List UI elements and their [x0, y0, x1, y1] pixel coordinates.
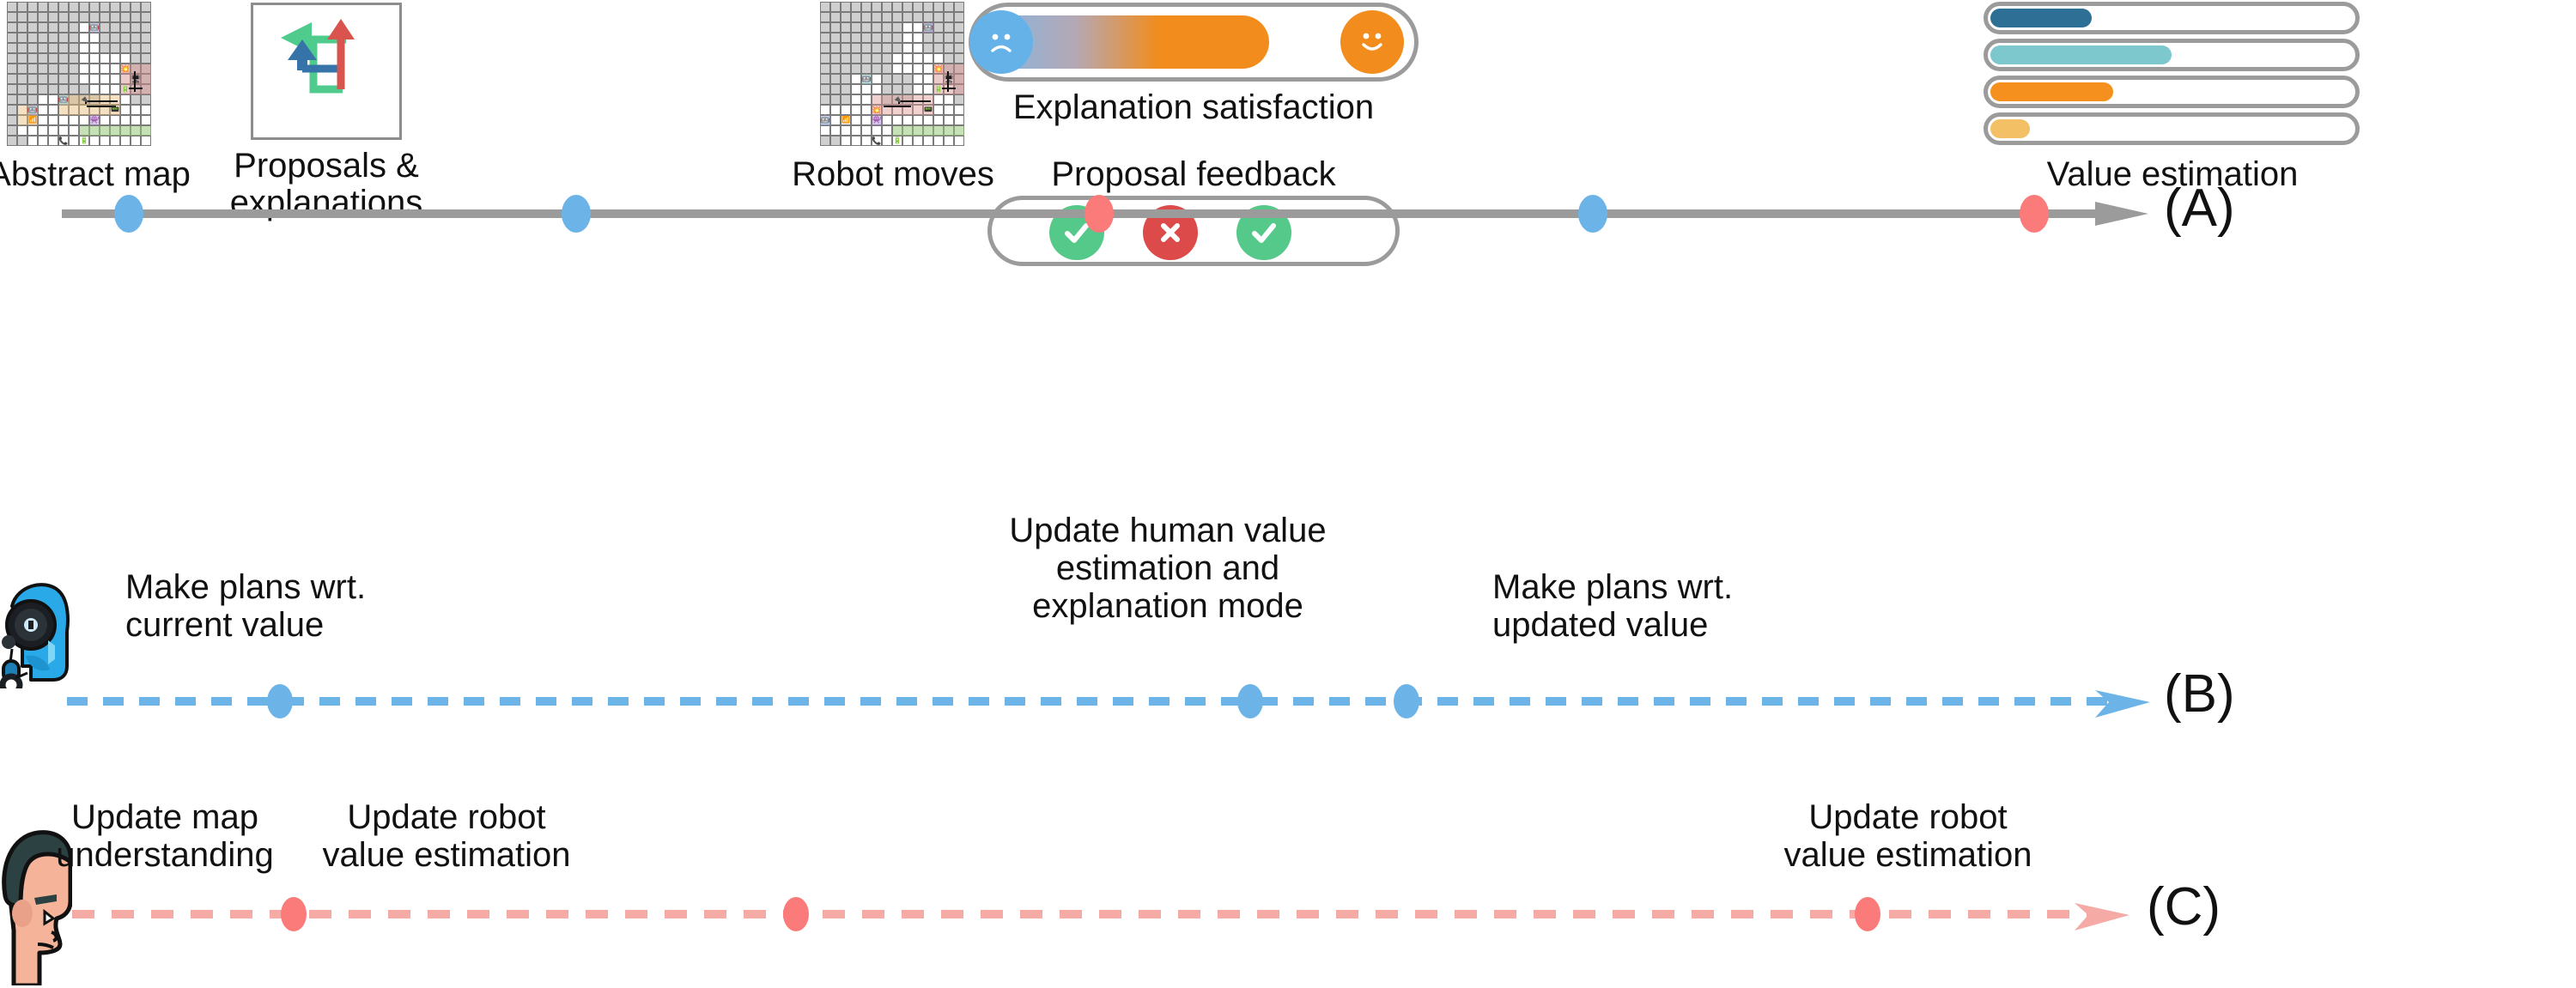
grid-cell	[820, 33, 830, 43]
grid-cell	[902, 2, 913, 12]
grid-cell	[79, 115, 89, 125]
signal-icon: 📶	[841, 115, 851, 125]
grid-cell	[830, 105, 841, 115]
grid-cell	[110, 12, 120, 22]
grid-cell	[27, 12, 38, 22]
grid-cell	[141, 53, 151, 64]
grid-cell	[100, 74, 110, 84]
grid-cell	[7, 64, 17, 74]
robot-marker-icon: 🤖	[27, 105, 38, 115]
grid-cell	[7, 84, 17, 94]
grid-cell	[841, 136, 851, 146]
grid-cell	[17, 74, 27, 84]
grid-cell	[954, 43, 964, 53]
grid-cell	[954, 22, 964, 33]
timeline-dot[interactable]	[1394, 684, 1419, 718]
grid-cell	[17, 84, 27, 94]
grid-cell	[841, 33, 851, 43]
grid-cell	[933, 12, 944, 22]
timeline-dot[interactable]	[1237, 684, 1263, 718]
grid-cell	[79, 53, 89, 64]
grid-cell	[7, 136, 17, 146]
grid-cell	[79, 74, 89, 84]
grid-cell	[933, 94, 944, 105]
value-bar-track[interactable]	[1984, 2, 2360, 34]
grid-cell	[851, 33, 861, 43]
grid-cell	[27, 84, 38, 94]
robot-head-icon	[0, 577, 72, 688]
grid-cell	[841, 2, 851, 12]
timeline-dot[interactable]	[114, 195, 143, 233]
grid-cell	[913, 2, 923, 12]
grid-cell	[7, 94, 17, 105]
grid-cell	[69, 64, 79, 74]
grid-cell	[882, 125, 892, 136]
grid-cell	[882, 74, 892, 84]
grid-cell	[872, 84, 882, 94]
value-bar-fill	[1990, 119, 2030, 138]
grid-cell	[954, 33, 964, 43]
grid-cell	[17, 22, 27, 33]
battery-icon: 🔋	[120, 84, 131, 94]
grid-cell	[872, 43, 882, 53]
grid-cell	[110, 64, 120, 74]
grid-cell	[17, 94, 27, 105]
hazard-robot-icon: 👾	[872, 115, 882, 125]
grid-cell	[882, 136, 892, 146]
grid-cell	[933, 136, 944, 146]
grid-cell	[69, 84, 79, 94]
grid-cell	[872, 64, 882, 74]
grid-cell	[913, 84, 923, 94]
grid-cell	[79, 22, 89, 33]
grid-cell	[79, 64, 89, 74]
timeline-b-note-0: Make plans wrt. current value	[125, 568, 572, 644]
grid-cell	[141, 136, 151, 146]
grid-cell	[892, 64, 902, 74]
grid-cell	[120, 94, 131, 105]
timeline-dot[interactable]	[783, 897, 809, 931]
radio-icon: 📟	[923, 105, 933, 115]
grid-cell	[913, 33, 923, 43]
grid-cell	[861, 84, 872, 94]
grid-cell	[69, 2, 79, 12]
grid-cell	[851, 125, 861, 136]
grid-cell	[69, 12, 79, 22]
timeline-dot[interactable]	[2020, 195, 2049, 233]
grid-cell	[944, 94, 954, 105]
grid-cell	[120, 33, 131, 43]
chip-icon: 🖥	[131, 74, 141, 84]
proposal-feedback-caption: Proposal feedback	[970, 156, 1417, 193]
grid-cell	[933, 33, 944, 43]
grid-cell	[820, 84, 830, 94]
grid-cell	[100, 12, 110, 22]
timeline-c-note-1: Update robot value estimation	[240, 798, 653, 874]
grid-cell	[820, 12, 830, 22]
grid-cell	[58, 22, 69, 33]
grid-cell	[79, 33, 89, 43]
grid-cell	[851, 53, 861, 64]
robot-marker-icon: 🤖	[58, 94, 69, 105]
grid-cell	[872, 53, 882, 64]
grid-cell	[954, 2, 964, 12]
grid-cell	[27, 136, 38, 146]
grid-cell	[58, 33, 69, 43]
grid-cell	[902, 115, 913, 125]
grid-cell	[38, 22, 48, 33]
grid-cell	[892, 33, 902, 43]
grid-cell	[58, 12, 69, 22]
value-bar-track[interactable]	[1984, 76, 2360, 108]
grid-cell	[110, 84, 120, 94]
grid-cell	[882, 115, 892, 125]
phone-icon: 📞	[58, 136, 69, 146]
grid-cell	[7, 22, 17, 33]
grid-cell	[110, 22, 120, 33]
value-bar-fill	[1990, 9, 2092, 27]
grid-cell	[830, 125, 841, 136]
grid-cell	[58, 115, 69, 125]
grid-cell	[820, 136, 830, 146]
grid-cell	[872, 33, 882, 43]
grid-cell	[872, 22, 882, 33]
grid-cell	[882, 84, 892, 94]
grid-cell	[851, 115, 861, 125]
grid-cell	[913, 74, 923, 84]
value-bar-track[interactable]	[1984, 39, 2360, 71]
robot-marker-icon: 🤖	[923, 22, 933, 33]
grid-cell	[38, 115, 48, 125]
radio-icon: 📟	[110, 105, 120, 115]
grid-region-highlight	[80, 126, 151, 136]
grid-cell	[954, 94, 964, 105]
timeline-b-axis	[67, 697, 2111, 706]
grid-cell	[841, 53, 851, 64]
grid-cell	[69, 43, 79, 53]
grid-cell	[79, 12, 89, 22]
grid-cell	[131, 43, 141, 53]
grid-cell	[820, 125, 830, 136]
explosion-icon: 💥	[872, 105, 882, 115]
grid-cell	[27, 64, 38, 74]
grid-cell	[89, 33, 100, 43]
grid-cell	[882, 22, 892, 33]
grid-cell	[902, 74, 913, 84]
grid-cell	[944, 22, 954, 33]
grid-cell	[7, 105, 17, 115]
grid-cell	[141, 105, 151, 115]
grid-cell	[851, 22, 861, 33]
grid-cell	[48, 22, 58, 33]
grid-cell	[851, 105, 861, 115]
grid-cell	[110, 115, 120, 125]
grid-cell	[933, 22, 944, 33]
grid-cell	[100, 43, 110, 53]
grid-cell	[120, 105, 131, 115]
grid-cell	[913, 115, 923, 125]
grid-cell	[7, 115, 17, 125]
grid-cell	[7, 33, 17, 43]
grid-cell	[38, 33, 48, 43]
grid-cell	[27, 94, 38, 105]
grid-cell	[933, 43, 944, 53]
explosion-icon: 💥	[933, 64, 944, 74]
robot-marker-icon: 🤖	[820, 115, 830, 125]
grid-cell	[38, 84, 48, 94]
grid-cell	[892, 53, 902, 64]
grid-cell	[131, 12, 141, 22]
grid-cell	[141, 22, 151, 33]
grid-cell	[933, 53, 944, 64]
grid-cell	[902, 84, 913, 94]
timeline-c-label: (C)	[2147, 881, 2221, 934]
grid-cell	[38, 2, 48, 12]
grid-cell	[902, 53, 913, 64]
grid-cell	[830, 53, 841, 64]
grid-cell	[923, 33, 933, 43]
grid-cell	[851, 84, 861, 94]
grid-cell	[830, 64, 841, 74]
battery-icon: 🔋	[933, 84, 944, 94]
grid-cell	[923, 115, 933, 125]
grid-cell	[892, 115, 902, 125]
robot-marker-icon: 🤖	[89, 22, 100, 33]
grid-cell	[820, 43, 830, 53]
grid-cell	[882, 64, 892, 74]
grid-cell	[872, 74, 882, 84]
grid-cell	[131, 53, 141, 64]
proposals-explanations-panel	[251, 3, 402, 140]
grid-cell	[48, 33, 58, 43]
grid-cell	[89, 84, 100, 94]
grid-cell	[861, 125, 872, 136]
grid-cell	[17, 53, 27, 64]
timeline-dot[interactable]	[1084, 195, 1114, 233]
value-bar-fill	[1990, 45, 2172, 64]
grid-cell	[902, 43, 913, 53]
grid-cell	[131, 136, 141, 146]
grid-cell	[79, 43, 89, 53]
grid-cell	[17, 33, 27, 43]
grid-cell	[944, 53, 954, 64]
timeline-a-arrowhead	[2095, 193, 2152, 234]
grid-cell	[830, 2, 841, 12]
grid-cell	[48, 136, 58, 146]
grid-cell	[38, 74, 48, 84]
timeline-dot[interactable]	[562, 195, 591, 233]
grid-cell	[830, 43, 841, 53]
grid-cell	[841, 84, 851, 94]
battery-icon: 🔋	[79, 136, 89, 146]
grid-cell	[933, 115, 944, 125]
grid-cell	[58, 64, 69, 74]
grid-wire	[942, 88, 956, 89]
grid-cell	[882, 33, 892, 43]
grid-cell	[17, 136, 27, 146]
grid-cell	[89, 136, 100, 146]
explosion-icon: 💥	[120, 64, 131, 74]
timeline-c-note-2: Update robot value estimation	[1702, 798, 2114, 874]
grid-cell	[841, 105, 851, 115]
grid-cell	[48, 84, 58, 94]
grid-cell	[100, 2, 110, 12]
grid-cell	[902, 64, 913, 74]
grid-cell	[820, 105, 830, 115]
grid-cell	[882, 53, 892, 64]
grid-cell	[48, 94, 58, 105]
grid-cell	[89, 53, 100, 64]
grid-cell	[38, 94, 48, 105]
grid-cell	[48, 125, 58, 136]
grid-cell	[120, 22, 131, 33]
grid-cell	[820, 53, 830, 64]
grid-cell	[89, 2, 100, 12]
grid-cell	[944, 105, 954, 115]
grid-map-icon: 🤖🤖🤖👾💥🖥🔋🔌📟📶📞🔋	[7, 2, 151, 146]
robot-marker-icon: 🤖	[861, 74, 872, 84]
grid-cell	[131, 22, 141, 33]
value-bar-track[interactable]	[1984, 112, 2360, 145]
grid-cell	[100, 115, 110, 125]
grid-cell	[69, 33, 79, 43]
grid-cell	[69, 125, 79, 136]
grid-cell	[120, 136, 131, 146]
grid-cell	[17, 12, 27, 22]
robot-moves-panel: 🤖🤖🤖👾💥🖥🔋🔌📟💥📶📞🔋	[820, 2, 964, 146]
grid-cell	[902, 33, 913, 43]
robot-moves-caption: Robot moves	[773, 156, 1013, 193]
grid-cell	[841, 12, 851, 22]
grid-cell	[913, 64, 923, 74]
grid-cell	[954, 53, 964, 64]
grid-cell	[48, 74, 58, 84]
grid-cell	[69, 115, 79, 125]
proposal-feedback-group[interactable]	[987, 196, 1400, 266]
grid-cell	[861, 53, 872, 64]
grid-cell	[120, 43, 131, 53]
grid-cell	[944, 2, 954, 12]
grid-cell	[872, 2, 882, 12]
grid-cell	[110, 74, 120, 84]
grid-cell	[58, 53, 69, 64]
grid-cell	[58, 125, 69, 136]
grid-cell	[861, 64, 872, 74]
grid-cell	[933, 105, 944, 115]
timeline-dot[interactable]	[281, 897, 307, 931]
grid-cell	[923, 84, 933, 94]
happy-face-icon	[1340, 10, 1404, 74]
grid-cell	[861, 22, 872, 33]
grid-map-icon: 🤖🤖🤖👾💥🖥🔋🔌📟💥📶📞🔋	[820, 2, 964, 146]
timeline-c-arrowhead	[2075, 891, 2136, 941]
grid-cell	[120, 2, 131, 12]
sad-face-icon	[969, 10, 1033, 74]
grid-wire	[900, 100, 931, 102]
grid-cell	[882, 43, 892, 53]
grid-cell	[120, 115, 131, 125]
abstract-map-caption: Abstract map	[0, 156, 210, 193]
grid-cell	[58, 43, 69, 53]
grid-cell	[120, 53, 131, 64]
grid-cell	[913, 136, 923, 146]
explanation-satisfaction-slider[interactable]	[969, 3, 1419, 82]
grid-cell	[100, 84, 110, 94]
grid-cell	[933, 2, 944, 12]
grid-cell	[944, 33, 954, 43]
value-bar-fill	[1990, 82, 2113, 101]
grid-cell	[861, 94, 872, 105]
grid-cell	[131, 105, 141, 115]
signal-icon: 📶	[27, 115, 38, 125]
switch-icon: 🔌	[79, 94, 89, 105]
grid-wire	[87, 100, 118, 102]
timeline-dot[interactable]	[1855, 897, 1880, 931]
grid-cell	[944, 115, 954, 125]
grid-cell	[17, 125, 27, 136]
grid-cell	[892, 84, 902, 94]
grid-cell	[851, 12, 861, 22]
grid-cell	[48, 53, 58, 64]
grid-cell	[830, 84, 841, 94]
grid-cell	[861, 2, 872, 12]
grid-cell	[48, 2, 58, 12]
timeline-c-axis	[72, 910, 2092, 918]
grid-cell	[27, 43, 38, 53]
grid-cell	[131, 94, 141, 105]
grid-cell	[944, 12, 954, 22]
timeline-dot[interactable]	[267, 684, 293, 718]
grid-cell	[58, 74, 69, 84]
grid-cell	[120, 12, 131, 22]
grid-cell	[38, 125, 48, 136]
grid-cell	[48, 43, 58, 53]
grid-cell	[923, 136, 933, 146]
grid-cell	[841, 74, 851, 84]
grid-cell	[27, 74, 38, 84]
grid-cell	[48, 105, 58, 115]
grid-cell	[892, 2, 902, 12]
grid-cell	[69, 22, 79, 33]
grid-cell	[851, 43, 861, 53]
grid-cell	[141, 43, 151, 53]
grid-cell	[17, 2, 27, 12]
grid-cell	[913, 43, 923, 53]
grid-cell	[923, 43, 933, 53]
chip-icon: 🖥	[944, 74, 954, 84]
grid-cell	[830, 115, 841, 125]
battery-icon: 🔋	[892, 136, 902, 146]
grid-cell	[100, 53, 110, 64]
grid-cell	[27, 22, 38, 33]
grid-cell	[923, 12, 933, 22]
timeline-dot[interactable]	[1578, 195, 1607, 233]
grid-cell	[131, 33, 141, 43]
timeline-b-label: (B)	[2164, 668, 2235, 721]
grid-cell	[841, 22, 851, 33]
grid-cell	[7, 125, 17, 136]
grid-cell	[69, 136, 79, 146]
grid-cell	[48, 64, 58, 74]
timeline-a-label: (A)	[2164, 182, 2235, 235]
grid-cell	[944, 136, 954, 146]
grid-cell	[58, 84, 69, 94]
grid-cell	[110, 2, 120, 12]
plan-arrows-icon	[253, 5, 399, 138]
grid-cell	[7, 12, 17, 22]
grid-cell	[141, 33, 151, 43]
grid-cell	[131, 115, 141, 125]
